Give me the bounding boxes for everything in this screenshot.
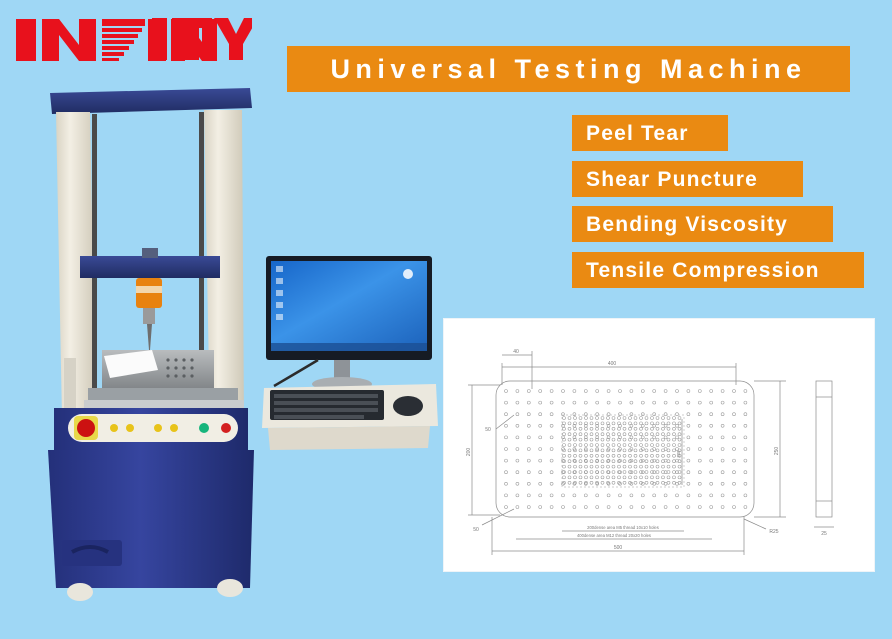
dim-corner-radius: R25 (769, 529, 778, 535)
emergency-stop-button[interactable] (77, 419, 95, 437)
machine-foot-left (67, 583, 93, 601)
load-cell-shaft (143, 308, 155, 324)
feature-badge-label: Bending Viscosity (586, 214, 788, 235)
feature-badge-shear-puncture: Shear Puncture (572, 161, 803, 197)
keyboard-tray-drawer (268, 426, 430, 450)
indicator-yellow-3[interactable] (154, 424, 162, 432)
feature-badge-peel-tear: Peel Tear (572, 115, 728, 151)
cabinet-handle-plate (62, 540, 122, 566)
work-table-cad-drawing: 400 40 200 250 500 200dense area M5 thre… (444, 319, 874, 571)
leader-corner-radius (744, 519, 766, 529)
feature-badge-label: Shear Puncture (586, 169, 758, 190)
poster-canvas: Universal Testing Machine Peel Tear Shea… (0, 0, 892, 639)
machine-table-edge (84, 400, 244, 408)
feature-badge-bending-viscosity: Bending Viscosity (572, 206, 833, 242)
machine-moving-crossbeam (80, 256, 220, 278)
drawing-dimension-labels: 400 40 200 250 500 200dense area M5 thre… (466, 349, 827, 551)
indicator-green[interactable] (199, 423, 209, 433)
note-inner-grid: 200dense area M5 thread 10x10 holes (587, 525, 659, 530)
dim-left-height: 200 (466, 448, 472, 457)
feature-badge-label: Peel Tear (586, 123, 689, 144)
infinity-logo-suffix (152, 16, 252, 62)
dim-bottom-overall: 500 (614, 545, 623, 551)
dim-inner-vertical: 200 (676, 450, 681, 458)
monitor-taskbar (271, 343, 427, 351)
dim-top-overall: 400 (608, 361, 617, 367)
universal-testing-machine-photo (18, 88, 438, 628)
indicator-yellow-1[interactable] (110, 424, 118, 432)
page-title-banner: Universal Testing Machine (287, 46, 850, 92)
dim-edge-offset-left: 50 (485, 427, 491, 433)
work-table-drawing-panel: 400 40 200 250 500 200dense area M5 thre… (443, 318, 875, 572)
page-title: Universal Testing Machine (330, 56, 806, 83)
machine-foot-right (217, 579, 243, 597)
monitor-cable (274, 360, 318, 386)
feature-badge-tensile-compression: Tensile Compression (572, 252, 864, 288)
indicator-red[interactable] (221, 423, 231, 433)
dim-side-thickness: 25 (821, 531, 827, 537)
dim-right-height: 250 (774, 447, 780, 456)
mouse (393, 396, 423, 416)
feature-badge-label: Tensile Compression (586, 260, 820, 281)
note-outer-grid: 400dense area M12 thread 20x20 holes (577, 533, 651, 538)
table-side-view-outline (816, 381, 832, 517)
dim-edge-offset-bottom: 50 (473, 527, 479, 533)
desktop-widget-icon (403, 269, 413, 279)
indicator-yellow-4[interactable] (170, 424, 178, 432)
load-cell-label (136, 286, 162, 293)
machine-cabinet (48, 450, 254, 588)
test-probe (147, 324, 152, 350)
table-hole-grid (505, 390, 747, 509)
indicator-yellow-2[interactable] (126, 424, 134, 432)
machine-crosshead-mount (142, 248, 158, 258)
dim-top-pitch: 40 (513, 349, 519, 355)
